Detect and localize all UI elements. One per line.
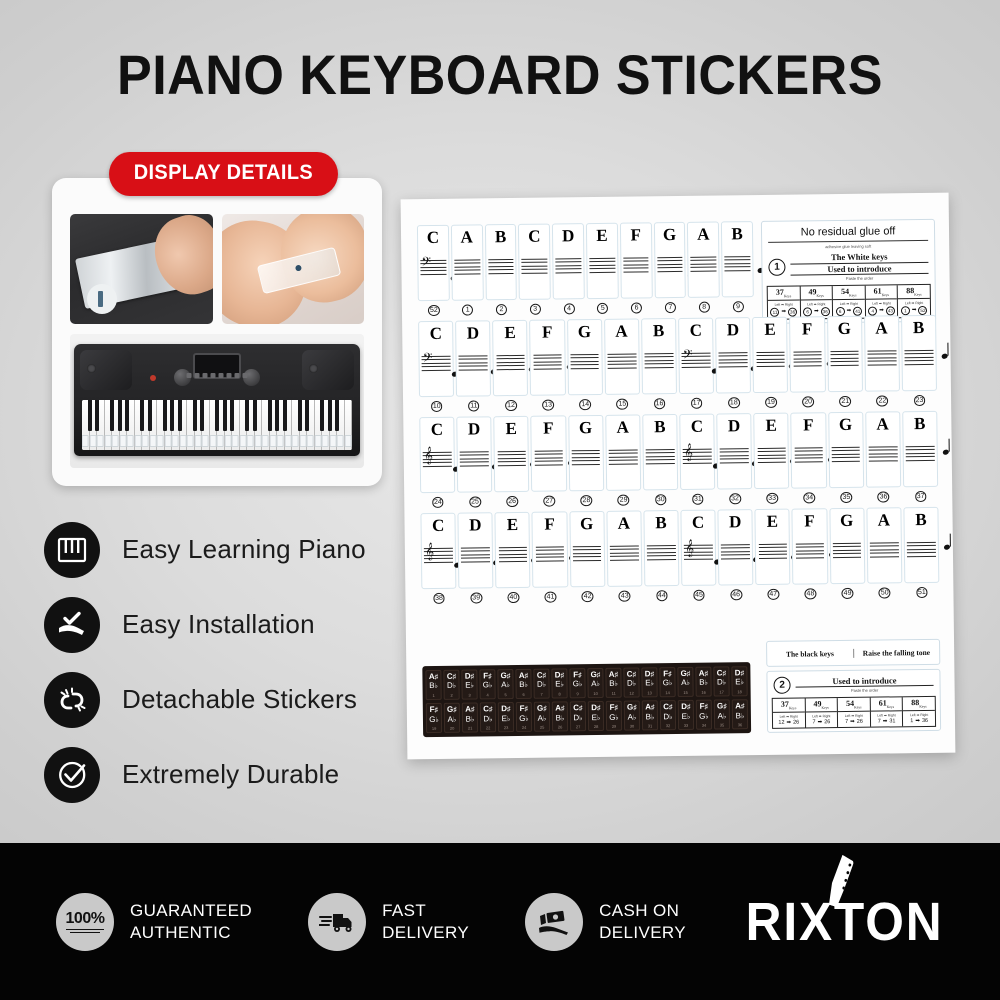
sticker-number: 41 [544, 591, 556, 602]
black-key-sticker[interactable]: G♯A♭20 [444, 702, 460, 732]
sticker-number: 12 [505, 400, 517, 411]
range-column: 37KeysLeft ➡ Right12➡26 [773, 699, 806, 728]
sticker-number: 37 [915, 491, 927, 502]
music-staff [533, 346, 562, 376]
range-column: 88KeysLeft ➡ Right1➡52 [898, 285, 930, 317]
trust-line-1: FAST [382, 900, 469, 921]
white-key-sticker[interactable]: D [552, 223, 585, 299]
black-key-sticker[interactable]: C♯D♭32 [660, 700, 676, 730]
flat-name: G♭ [480, 681, 494, 692]
white-key-sticker[interactable]: E [754, 413, 790, 489]
flat-name: E♭ [732, 678, 746, 689]
range-values: 1➡52 [898, 306, 930, 315]
sharp-name: F♯ [517, 705, 531, 714]
note-letter: E [507, 516, 519, 533]
music-staff [719, 344, 748, 374]
white-key-sticker[interactable]: A [604, 318, 640, 394]
sharp-name: C♯ [444, 672, 458, 681]
music-staff [498, 539, 527, 569]
percent-value: 100% [66, 910, 105, 930]
piano-black-key [223, 400, 227, 431]
sticker-number: 19 [765, 397, 777, 408]
sticker-number: 10 [431, 401, 443, 412]
left-right-label: Left ➡ Right [773, 714, 805, 718]
piano-black-key [275, 400, 279, 431]
note-letter: G [840, 512, 853, 529]
display-details-card [52, 178, 382, 486]
music-staff [645, 345, 674, 375]
left-right-label: Left ➡ Right [768, 302, 800, 306]
flat-name: D♭ [481, 714, 495, 725]
key-count: 88Keys [903, 698, 935, 711]
music-staff [794, 439, 823, 469]
sticker-number: 26 [553, 724, 567, 729]
white-key-sticker[interactable]: A [864, 315, 900, 391]
note-letter: F [803, 416, 814, 433]
sharp-name: F♯ [570, 671, 584, 680]
black-key-sticker[interactable]: G♯A♭10 [587, 668, 603, 698]
sharp-name: D♯ [732, 669, 746, 678]
black-key-sticker[interactable]: C♯D♭12 [623, 667, 639, 697]
black-key-sticker[interactable]: G♯A♭25 [534, 701, 550, 731]
sticker-number: 20 [802, 396, 814, 407]
sticker-number: 28 [589, 724, 603, 729]
sticker-number: 16 [697, 689, 711, 694]
range-values: 11➡36 [768, 307, 800, 316]
sticker-number: 13 [643, 690, 657, 695]
flat-name: D♭ [534, 680, 548, 691]
clef-icon: 𝄞 [684, 445, 693, 460]
note-letter: E [504, 324, 516, 341]
white-key-sticker[interactable]: C [518, 224, 551, 300]
flat-name: A♭ [678, 678, 692, 689]
white-key-sticker[interactable]: B [902, 411, 938, 487]
black-key-sticker[interactable]: F♯G♭19 [426, 703, 442, 733]
white-key-sticker[interactable]: B [643, 510, 679, 586]
note-letter: D [468, 420, 480, 437]
sticker-number: 18 [733, 689, 747, 694]
note-letter: B [915, 511, 927, 528]
sticker-number: 43 [619, 591, 631, 602]
black-key-sticker[interactable]: F♯G♭29 [606, 701, 622, 731]
black-key-sticker[interactable]: G♯A♭35 [714, 699, 730, 729]
flat-name: D♭ [571, 713, 585, 724]
white-key-sticker[interactable]: E [495, 512, 531, 588]
white-key-sticker[interactable]: E [755, 509, 791, 585]
black-key-sticker[interactable]: F♯G♭9 [569, 668, 585, 698]
white-key-sticker[interactable]: C𝄢 [418, 321, 454, 397]
note-letter: C [691, 418, 703, 435]
black-key-sticker[interactable]: D♯E♭13 [641, 667, 657, 697]
piano-black-key [88, 400, 92, 431]
white-key-sticker[interactable]: D [715, 317, 751, 393]
sticker-number: 4 [481, 692, 495, 697]
flat-name: G♭ [660, 678, 674, 689]
white-key-sticker[interactable]: E [494, 416, 530, 492]
sticker-number: 5 [499, 692, 513, 697]
sticker-number: 25 [469, 496, 481, 507]
white-key-sticker[interactable]: G [567, 319, 603, 395]
note-letter: A [618, 515, 630, 532]
note-letter: G [838, 320, 851, 337]
black-key-sticker[interactable]: D♯E♭23 [498, 702, 514, 732]
sharp-name: C♯ [624, 670, 638, 679]
piano-white-key [345, 400, 353, 450]
flat-name: E♭ [679, 711, 693, 722]
piano-black-key [193, 400, 197, 431]
sticker-number: 49 [842, 588, 854, 599]
white-key-sticker[interactable]: G [568, 415, 604, 491]
black-key-sticker[interactable]: D♯E♭33 [678, 700, 694, 730]
used-to-introduce-label: Used to introduce [790, 262, 928, 276]
note-letter: E [765, 417, 777, 434]
sticker-number: 51 [916, 587, 928, 598]
white-key-sticker[interactable]: B [485, 224, 518, 300]
music-staff [867, 342, 896, 372]
sticker-number: 27 [571, 724, 585, 729]
delivery-truck-icon [308, 893, 366, 951]
sharp-name: F♯ [480, 672, 494, 681]
white-key-sticker[interactable]: A [687, 221, 720, 297]
white-key-sticker[interactable]: D [718, 509, 754, 585]
white-key-sticker[interactable]: A [606, 510, 642, 586]
sticker-number: 29 [618, 495, 630, 506]
white-key-sticker[interactable]: A [866, 507, 902, 583]
white-key-sticker[interactable]: C𝄞 [420, 513, 456, 589]
used-to-introduce-label: Used to introduce [795, 675, 933, 688]
music-staff [522, 251, 548, 281]
white-key-sticker[interactable]: A [865, 411, 901, 487]
white-key-sticker[interactable]: G [829, 508, 865, 584]
note-letter: C [427, 229, 439, 246]
range-values: 6➡41 [833, 306, 865, 315]
music-staff [905, 342, 934, 372]
black-key-sticker[interactable]: A♯B♭1 [425, 670, 441, 700]
photo-sticker-fingers [222, 214, 365, 324]
sharp-name: D♯ [499, 705, 513, 714]
white-key-sticker[interactable]: D [716, 413, 752, 489]
white-key-sticker[interactable]: F [791, 412, 827, 488]
music-staff [535, 538, 564, 568]
key-count: 54Keys [833, 287, 865, 300]
sticker-number: 24 [517, 725, 531, 730]
white-key-sticker[interactable]: B [903, 507, 939, 583]
sticker-number: 17 [715, 689, 729, 694]
sticker-number: 19 [427, 726, 441, 731]
sticker-number: 31 [692, 494, 704, 505]
flat-name: D♭ [661, 712, 675, 723]
black-key-sticker[interactable]: C♯D♭22 [480, 702, 496, 732]
flat-name: A♭ [445, 714, 459, 725]
sticker-number: 44 [656, 590, 668, 601]
black-key-sticker[interactable]: A♯B♭26 [552, 701, 568, 731]
sticker-number: 3 [463, 692, 477, 697]
range-column: 54KeysLeft ➡ Right6➡41 [833, 286, 866, 318]
note-letter: C [692, 514, 704, 531]
piano-black-key [320, 400, 324, 431]
white-key-sticker[interactable]: D [455, 320, 491, 396]
black-key-sticker[interactable]: A♯B♭36 [732, 699, 748, 729]
black-key-sticker[interactable]: G♯A♭15 [677, 666, 693, 696]
black-key-sticker[interactable]: A♯B♭31 [642, 700, 658, 730]
sticker-number: 40 [507, 592, 519, 603]
black-key-sticker[interactable]: D♯E♭8 [551, 668, 567, 698]
range-column: 49KeysLeft ➡ Right7➡26 [805, 698, 838, 727]
range-values: 6➡36 [801, 307, 833, 316]
key-count: 49Keys [805, 699, 837, 712]
sticker-number: 21 [463, 725, 477, 730]
key-count: 61Keys [871, 699, 903, 712]
sticker-number: 30 [625, 723, 639, 728]
sharp-name: A♯ [516, 671, 530, 680]
sticker-number: 7 [535, 691, 549, 696]
sharp-name: C♯ [714, 669, 728, 678]
note-letter: B [495, 228, 507, 245]
sticker-number: 15 [679, 690, 693, 695]
white-key-sticker[interactable]: D [458, 512, 494, 588]
music-staff [907, 534, 936, 564]
music-staff [833, 535, 862, 565]
sharp-name: A♯ [696, 669, 710, 678]
note-letter: B [655, 514, 667, 531]
sticker-number: 2 [445, 693, 459, 698]
flat-name: B♭ [463, 714, 477, 725]
white-key-sticker[interactable]: F [620, 222, 653, 298]
note-letter: A [615, 323, 627, 340]
sticker-number: 30 [655, 494, 667, 505]
white-key-sticker[interactable]: C𝄞 [680, 510, 716, 586]
black-key-sticker[interactable]: A♯B♭16 [695, 666, 711, 696]
sheet-row-4: C𝄞DEFGABC𝄞DEFGAB [420, 507, 939, 589]
black-key-sticker[interactable]: F♯G♭24 [516, 702, 532, 732]
flat-name: A♭ [625, 712, 639, 723]
piano-black-key [305, 400, 309, 431]
sticker-number: 31 [643, 723, 657, 728]
music-staff [869, 438, 898, 468]
flat-name: G♭ [570, 680, 584, 691]
white-key-sticker[interactable]: C𝄞 [419, 417, 455, 493]
sticker-number: 29 [607, 724, 621, 729]
music-staff [534, 442, 563, 472]
sharp-name: A♯ [426, 673, 440, 682]
sticker-number: 39 [470, 592, 482, 603]
left-right-label: Left ➡ Right [838, 714, 870, 718]
range-column: 54KeysLeft ➡ Right7➡26 [838, 698, 871, 727]
black-key-sticker[interactable]: G♯A♭5 [497, 669, 513, 699]
piano-black-key [110, 400, 114, 431]
note-letter: A [697, 226, 709, 243]
clef-icon: 𝄢 [421, 256, 431, 271]
sticker-number: 9 [571, 691, 585, 696]
white-key-sticker[interactable]: B [642, 414, 678, 490]
sharp-name: G♯ [445, 706, 459, 715]
sharp-name: F♯ [660, 670, 674, 679]
flat-name: B♭ [516, 680, 530, 691]
white-key-sticker[interactable]: B [721, 221, 754, 297]
sticker-number: 32 [729, 493, 741, 504]
flat-name: E♭ [589, 713, 603, 724]
left-right-label: Left ➡ Right [800, 302, 832, 306]
white-key-sticker[interactable]: E [586, 223, 619, 299]
music-staff [795, 535, 824, 565]
music-staff [721, 536, 750, 566]
trust-line-1: CASH ON [599, 900, 686, 921]
sticker-number: 20 [445, 726, 459, 731]
black-key-sticker[interactable]: F♯G♭4 [479, 669, 495, 699]
sticker-number: 32 [661, 723, 675, 728]
footer-bar: 100% GUARANTEED AUTHENTIC FAST [0, 843, 1000, 1000]
black-key-sticker[interactable]: A♯B♭11 [605, 667, 621, 697]
sharp-name: G♯ [715, 702, 729, 711]
music-staff [647, 537, 676, 567]
piano-black-key [200, 400, 204, 431]
white-key-sticker[interactable]: F [532, 511, 568, 587]
note-letter: B [914, 415, 926, 432]
brand-name: RIXTON [746, 892, 944, 952]
range-column: 61KeysLeft ➡ Right7➡31 [871, 698, 904, 727]
white-key-sticker[interactable]: C𝄢 [678, 318, 714, 394]
clef-icon: 𝄢 [683, 349, 693, 364]
note-letter: D [729, 513, 741, 530]
key-count: 37Keys [773, 700, 805, 713]
note-letter: E [764, 321, 776, 338]
white-key-sticker[interactable]: A [451, 224, 484, 300]
left-right-label: Left ➡ Right [898, 301, 930, 305]
music-staff [756, 344, 785, 374]
sharp-name: F♯ [697, 702, 711, 711]
range-values: 7➡26 [806, 719, 838, 725]
sticker-number: 34 [697, 723, 711, 728]
sharp-name: D♯ [589, 704, 603, 713]
black-key-sticker[interactable]: A♯B♭21 [462, 702, 478, 732]
sticker-number: 22 [481, 725, 495, 730]
display-details-badge: DISPLAY DETAILS [109, 152, 338, 196]
black-key-sticker[interactable]: F♯G♭34 [696, 699, 712, 729]
range-column: 88KeysLeft ➡ Right1➡36 [903, 697, 935, 726]
sharp-name: G♯ [678, 669, 692, 678]
trust-label: GUARANTEED AUTHENTIC [130, 900, 252, 943]
black-key-sticker[interactable]: G♯A♭30 [624, 700, 640, 730]
flat-name: B♭ [643, 712, 657, 723]
sharp-name: C♯ [481, 705, 495, 714]
flat-name: B♭ [696, 678, 710, 689]
note-letter: E [505, 420, 517, 437]
note-letter: D [469, 516, 481, 533]
white-key-sticker[interactable]: E [492, 320, 528, 396]
black-key-sticker[interactable]: D♯E♭28 [588, 701, 604, 731]
flat-name: A♭ [535, 713, 549, 724]
white-key-sticker[interactable]: A [605, 414, 641, 490]
black-key-sticker[interactable]: C♯D♭27 [570, 701, 586, 731]
sharp-name: G♯ [535, 704, 549, 713]
piano-black-key [298, 400, 302, 431]
white-key-sticker[interactable]: G [828, 412, 864, 488]
black-key-sticker[interactable]: C♯D♭7 [533, 668, 549, 698]
black-keys-intro-panel: 2Used to introducePaste the order37KeysL… [766, 669, 941, 733]
piano-black-key [328, 400, 332, 431]
trust-line-2: DELIVERY [599, 922, 686, 943]
music-staff [589, 250, 615, 280]
white-key-sticker[interactable]: F [530, 319, 566, 395]
music-staff: 𝄢 [422, 348, 451, 378]
note-letter: G [839, 416, 852, 433]
sticker-number: 45 [693, 590, 705, 601]
step-number: 1 [768, 259, 785, 276]
black-key-sticker[interactable]: C♯D♭17 [713, 666, 729, 696]
white-key-sticker[interactable]: F [531, 415, 567, 491]
piano-black-key [125, 400, 129, 431]
sticker-number: 50 [879, 587, 891, 598]
sheet-row-1: C𝄢ABCDEFGAB52123456789No residual glue o… [417, 219, 936, 318]
music-staff [556, 250, 582, 280]
note-letter: F [543, 420, 554, 437]
sticker-number: 18 [728, 397, 740, 408]
sharp-name: G♯ [498, 672, 512, 681]
product-photo-row [70, 214, 364, 324]
music-staff: 𝄞 [423, 444, 452, 474]
white-key-sticker[interactable]: G [569, 511, 605, 587]
check-circle-icon [44, 747, 100, 803]
no-glue-subtext: adhesive glue leaving soft [766, 243, 930, 250]
sticker-number: 34 [803, 492, 815, 503]
black-key-sticker[interactable]: F♯G♭14 [659, 667, 675, 697]
white-key-sticker[interactable]: F [789, 316, 825, 392]
range-column: 49KeysLeft ➡ Right6➡36 [800, 286, 833, 318]
trust-item-guaranteed-authentic: 100% GUARANTEED AUTHENTIC [56, 893, 252, 951]
flat-name: E♭ [462, 681, 476, 692]
sticker-number: 5 [597, 303, 608, 314]
flat-name: B♭ [426, 681, 440, 692]
black-key-sticker[interactable]: D♯E♭3 [461, 669, 477, 699]
white-key-sticker[interactable]: C𝄞 [679, 414, 715, 490]
white-key-sticker[interactable]: B [901, 315, 937, 391]
sticker-number: 35 [715, 722, 729, 727]
music-staff [607, 346, 636, 376]
sticker-number: 14 [579, 399, 591, 410]
black-keys-label: The black keys [767, 649, 854, 659]
music-staff: 𝄞 [684, 537, 713, 567]
sharp-name: G♯ [588, 671, 602, 680]
white-key-sticker[interactable]: B [641, 318, 677, 394]
black-key-sticker[interactable]: C♯D♭2 [443, 669, 459, 699]
piano-black-key [335, 400, 339, 431]
black-key-sticker[interactable]: D♯E♭18 [731, 666, 747, 696]
flat-name: E♭ [642, 679, 656, 690]
white-key-sticker[interactable]: C𝄢 [417, 225, 450, 301]
white-key-sticker[interactable]: G [653, 222, 686, 298]
white-key-sticker[interactable]: G [827, 316, 863, 392]
sticker-number: 8 [553, 691, 567, 696]
sticker-number: 16 [654, 398, 666, 409]
sticker-number: 52 [428, 305, 440, 316]
hand-check-icon [44, 597, 100, 653]
white-key-sticker[interactable]: F [792, 508, 828, 584]
music-staff: 𝄞 [424, 540, 453, 570]
music-staff [758, 536, 787, 566]
sharp-name: A♯ [643, 703, 657, 712]
white-key-sticker[interactable]: E [752, 317, 788, 393]
music-staff: 𝄢 [420, 252, 446, 282]
sticker-sheet: C𝄢ABCDEFGAB52123456789No residual glue o… [401, 193, 956, 760]
piano-black-key [268, 400, 272, 431]
black-keys-info-panel: The black keysRaise the falling tone2Use… [766, 639, 941, 733]
black-key-sticker[interactable]: A♯B♭6 [515, 668, 531, 698]
music-staff [757, 440, 786, 470]
music-staff [646, 441, 675, 471]
white-key-sticker[interactable]: D [456, 416, 492, 492]
music-staff [459, 347, 488, 377]
black-keys-block: A♯B♭1C♯D♭2D♯E♭3F♯G♭4G♯A♭5A♯B♭6C♯D♭7D♯E♭8… [422, 662, 751, 737]
